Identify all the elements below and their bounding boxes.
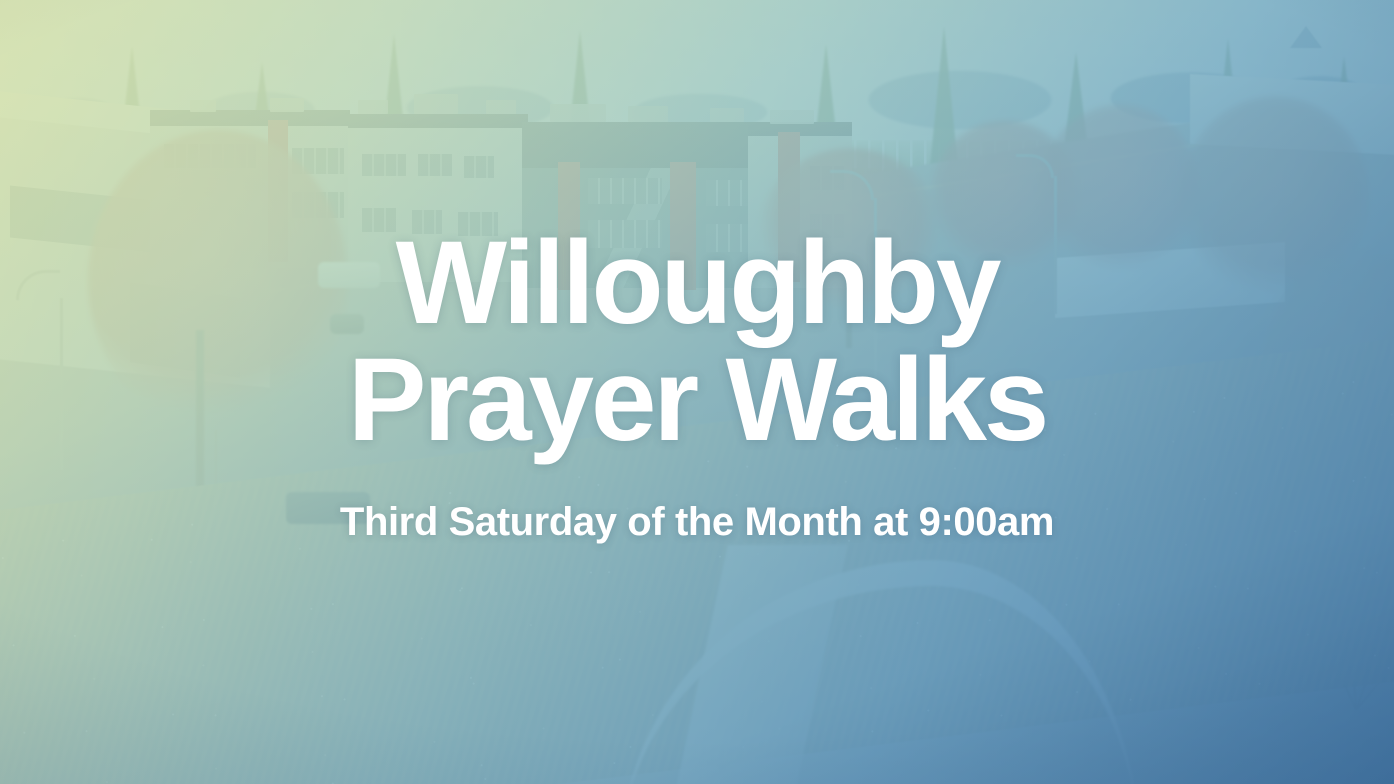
- slide-subheadline: Third Saturday of the Month at 9:00am: [340, 500, 1054, 545]
- slide-content: Willoughby Prayer Walks Third Saturday o…: [0, 0, 1394, 784]
- slide-headline: Willoughby Prayer Walks: [348, 225, 1046, 459]
- announcement-slide: Willoughby Prayer Walks Third Saturday o…: [0, 0, 1394, 784]
